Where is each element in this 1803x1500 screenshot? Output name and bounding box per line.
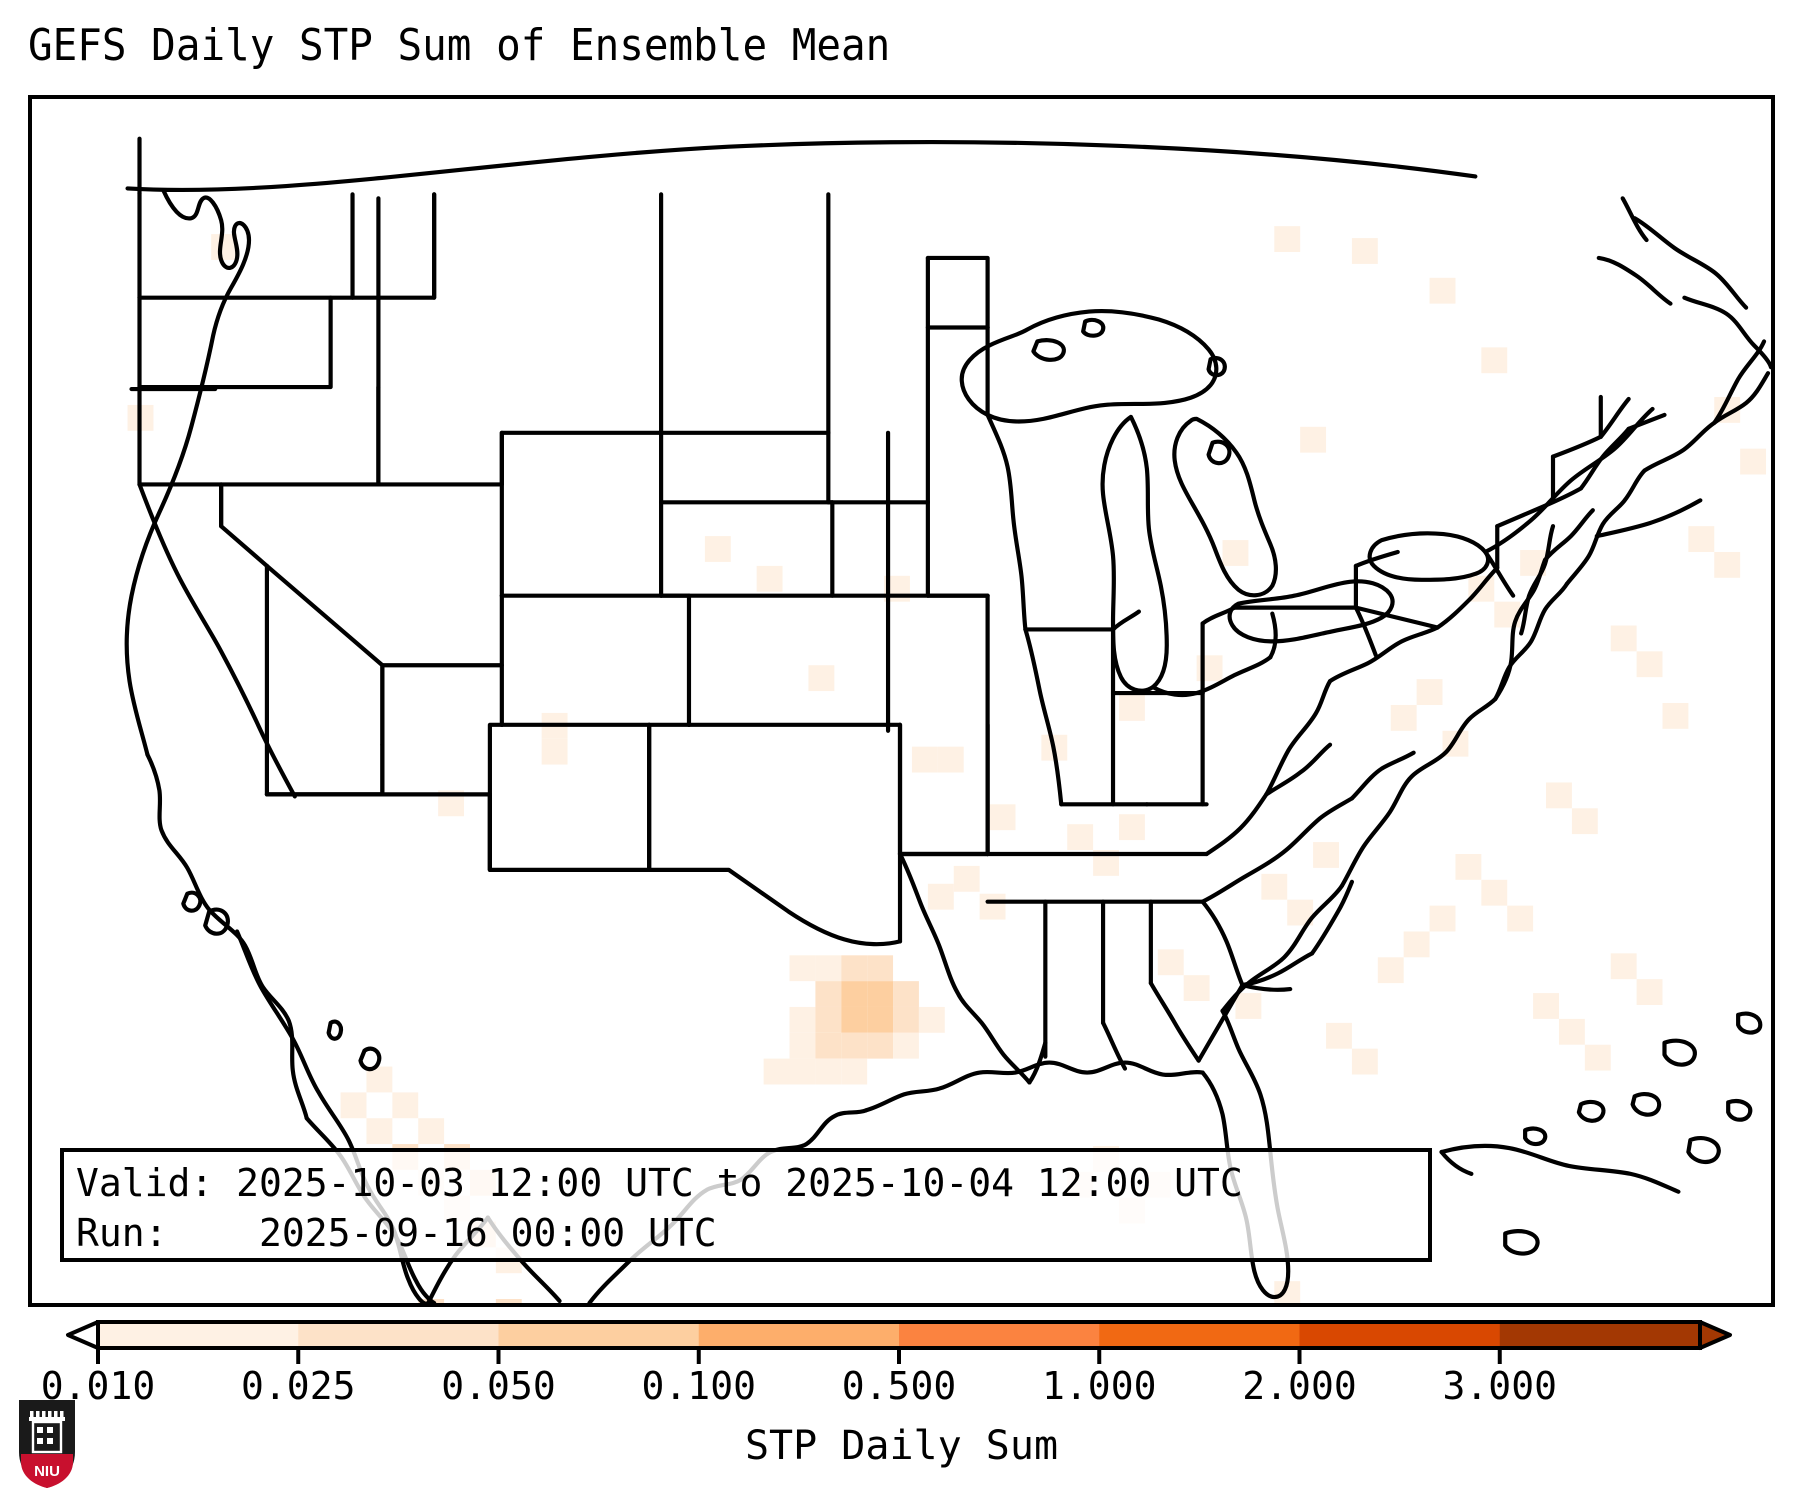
colorbar-extend-min — [68, 1322, 98, 1348]
colorbar-segment — [899, 1322, 1100, 1348]
colorbar-tick-labels: 0.0100.0250.0500.1000.5001.0002.0003.000 — [0, 1364, 1803, 1414]
colorbar-segment — [298, 1322, 499, 1348]
run-time-text: Run: 2025-09-16 00:00 UTC — [76, 1208, 1416, 1258]
niu-wordmark: NIU — [34, 1463, 60, 1480]
colorbar-tick-label: 3.000 — [1443, 1364, 1557, 1408]
page-title: GEFS Daily STP Sum of Ensemble Mean — [28, 18, 890, 74]
figure-canvas: GEFS Daily STP Sum of Ensemble Mean — [0, 0, 1803, 1500]
map-clip — [32, 99, 1771, 1303]
colorbar-tick-label: 1.000 — [1042, 1364, 1156, 1408]
colorbar-segment — [1300, 1322, 1501, 1348]
colorbar-segment — [699, 1322, 900, 1348]
colorbar-tick-label: 0.100 — [642, 1364, 756, 1408]
map-panel[interactable] — [28, 95, 1775, 1307]
colorbar[interactable]: 0.0100.0250.0500.1000.5001.0002.0003.000… — [0, 1310, 1803, 1500]
map-geography — [32, 99, 1771, 1303]
colorbar-extend-max — [1700, 1322, 1730, 1348]
colorbar-tick-label: 0.500 — [842, 1364, 956, 1408]
colorbar-tick-label: 0.050 — [441, 1364, 555, 1408]
colorbar-tick-label: 0.025 — [241, 1364, 355, 1408]
niu-logo: NIU — [16, 1398, 78, 1490]
forecast-info-box: Valid: 2025-10-03 12:00 UTC to 2025-10-0… — [60, 1148, 1432, 1262]
colorbar-gradient[interactable] — [0, 1310, 1803, 1370]
colorbar-segment — [1500, 1322, 1701, 1348]
colorbar-tick-label: 2.000 — [1242, 1364, 1356, 1408]
colorbar-axis-label: STP Daily Sum — [0, 1422, 1803, 1470]
valid-period-text: Valid: 2025-10-03 12:00 UTC to 2025-10-0… — [76, 1158, 1416, 1208]
colorbar-segment — [1099, 1322, 1300, 1348]
colorbar-segment — [98, 1322, 299, 1348]
colorbar-segment — [499, 1322, 700, 1348]
